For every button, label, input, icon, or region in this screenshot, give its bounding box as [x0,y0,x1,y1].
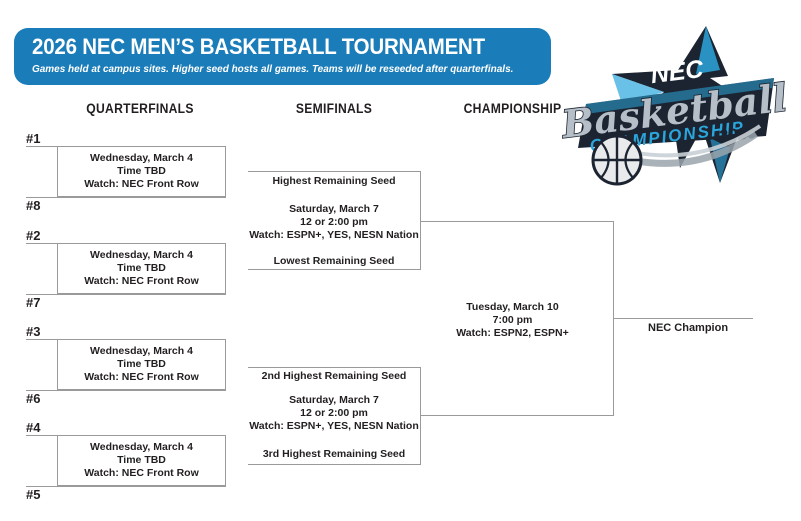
seed-qf1-bottom: #8 [26,198,40,213]
seed-qf3-bottom: #6 [26,391,40,406]
logo-basketball-icon [593,136,641,184]
championship-top-feed-line [420,221,614,222]
round-heading-championship: CHAMPIONSHIP [438,101,587,116]
nec-championship-logo: NEC Basketball CHAMPIONSHIP 2026 [560,8,798,194]
seed-line-qf1-bottom [26,197,226,198]
page-title: 2026 NEC MEN’S BASKETBALL TOURNAMENT [32,34,515,60]
game-sf2-watch: Watch: ESPN+, YES, NESN Nation [248,420,420,434]
seed-qf1-top: #1 [26,131,40,146]
game-sf1-watch: Watch: ESPN+, YES, NESN Nation [248,229,420,243]
seed-qf4-bottom: #5 [26,487,40,502]
semifinal2-bottom-slot: 3rd Highest Remaining Seed [248,448,420,460]
game-sf1-time: 12 or 2:00 pm [248,216,420,230]
seed-qf2-bottom: #7 [26,295,40,310]
game-qf3-date: Wednesday, March 4 [57,345,226,359]
game-sf1-date: Saturday, March 7 [248,203,420,217]
semifinal2-top-line [248,367,420,368]
game-qf2-watch: Watch: NEC Front Row [57,275,226,289]
game-qf1-date: Wednesday, March 4 [57,152,226,166]
champion-line [613,318,753,319]
semifinal2-right-connector [420,367,421,465]
game-qf2-time: Time TBD [57,262,226,276]
round-heading-quarterfinals: QUARTERFINALS [32,101,248,116]
semifinal2-bottom-line [248,464,420,465]
seed-qf4-top: #4 [26,420,40,435]
round-heading-semifinals: SEMIFINALS [255,101,413,116]
semifinal1-bottom-line [248,269,420,270]
header-banner: 2026 NEC MEN’S BASKETBALL TOURNAMENT Gam… [14,28,551,85]
semifinal1-bottom-slot: Lowest Remaining Seed [248,255,420,267]
seed-line-qf3-bottom [26,390,226,391]
game-championship-time: 7:00 pm [430,314,595,328]
champion-label: NEC Champion [648,322,728,334]
bracket-page: 2026 NEC MEN’S BASKETBALL TOURNAMENT Gam… [0,0,801,521]
semifinal1-top-line [248,171,420,172]
game-championship-date: Tuesday, March 10 [430,301,595,315]
header-subtitle: Games held at campus sites. Higher seed … [32,62,525,76]
game-qf3-time: Time TBD [57,358,226,372]
game-qf4-watch: Watch: NEC Front Row [57,467,226,481]
semifinal2-top-slot: 2nd Highest Remaining Seed [248,370,420,382]
game-qf4-time: Time TBD [57,454,226,468]
championship-bottom-feed-line [420,415,614,416]
game-qf1-watch: Watch: NEC Front Row [57,178,226,192]
game-sf2-time: 12 or 2:00 pm [248,407,420,421]
game-qf1-time: Time TBD [57,165,226,179]
seed-line-qf2-bottom [26,294,226,295]
game-sf2-date: Saturday, March 7 [248,394,420,408]
semifinal1-top-slot: Highest Remaining Seed [248,175,420,187]
game-qf3-watch: Watch: NEC Front Row [57,371,226,385]
seed-qf3-top: #3 [26,324,40,339]
game-championship-watch: Watch: ESPN2, ESPN+ [430,327,595,341]
game-qf4-date: Wednesday, March 4 [57,441,226,455]
seed-qf2-top: #2 [26,228,40,243]
seed-line-qf4-bottom [26,486,226,487]
game-qf2-date: Wednesday, March 4 [57,249,226,263]
